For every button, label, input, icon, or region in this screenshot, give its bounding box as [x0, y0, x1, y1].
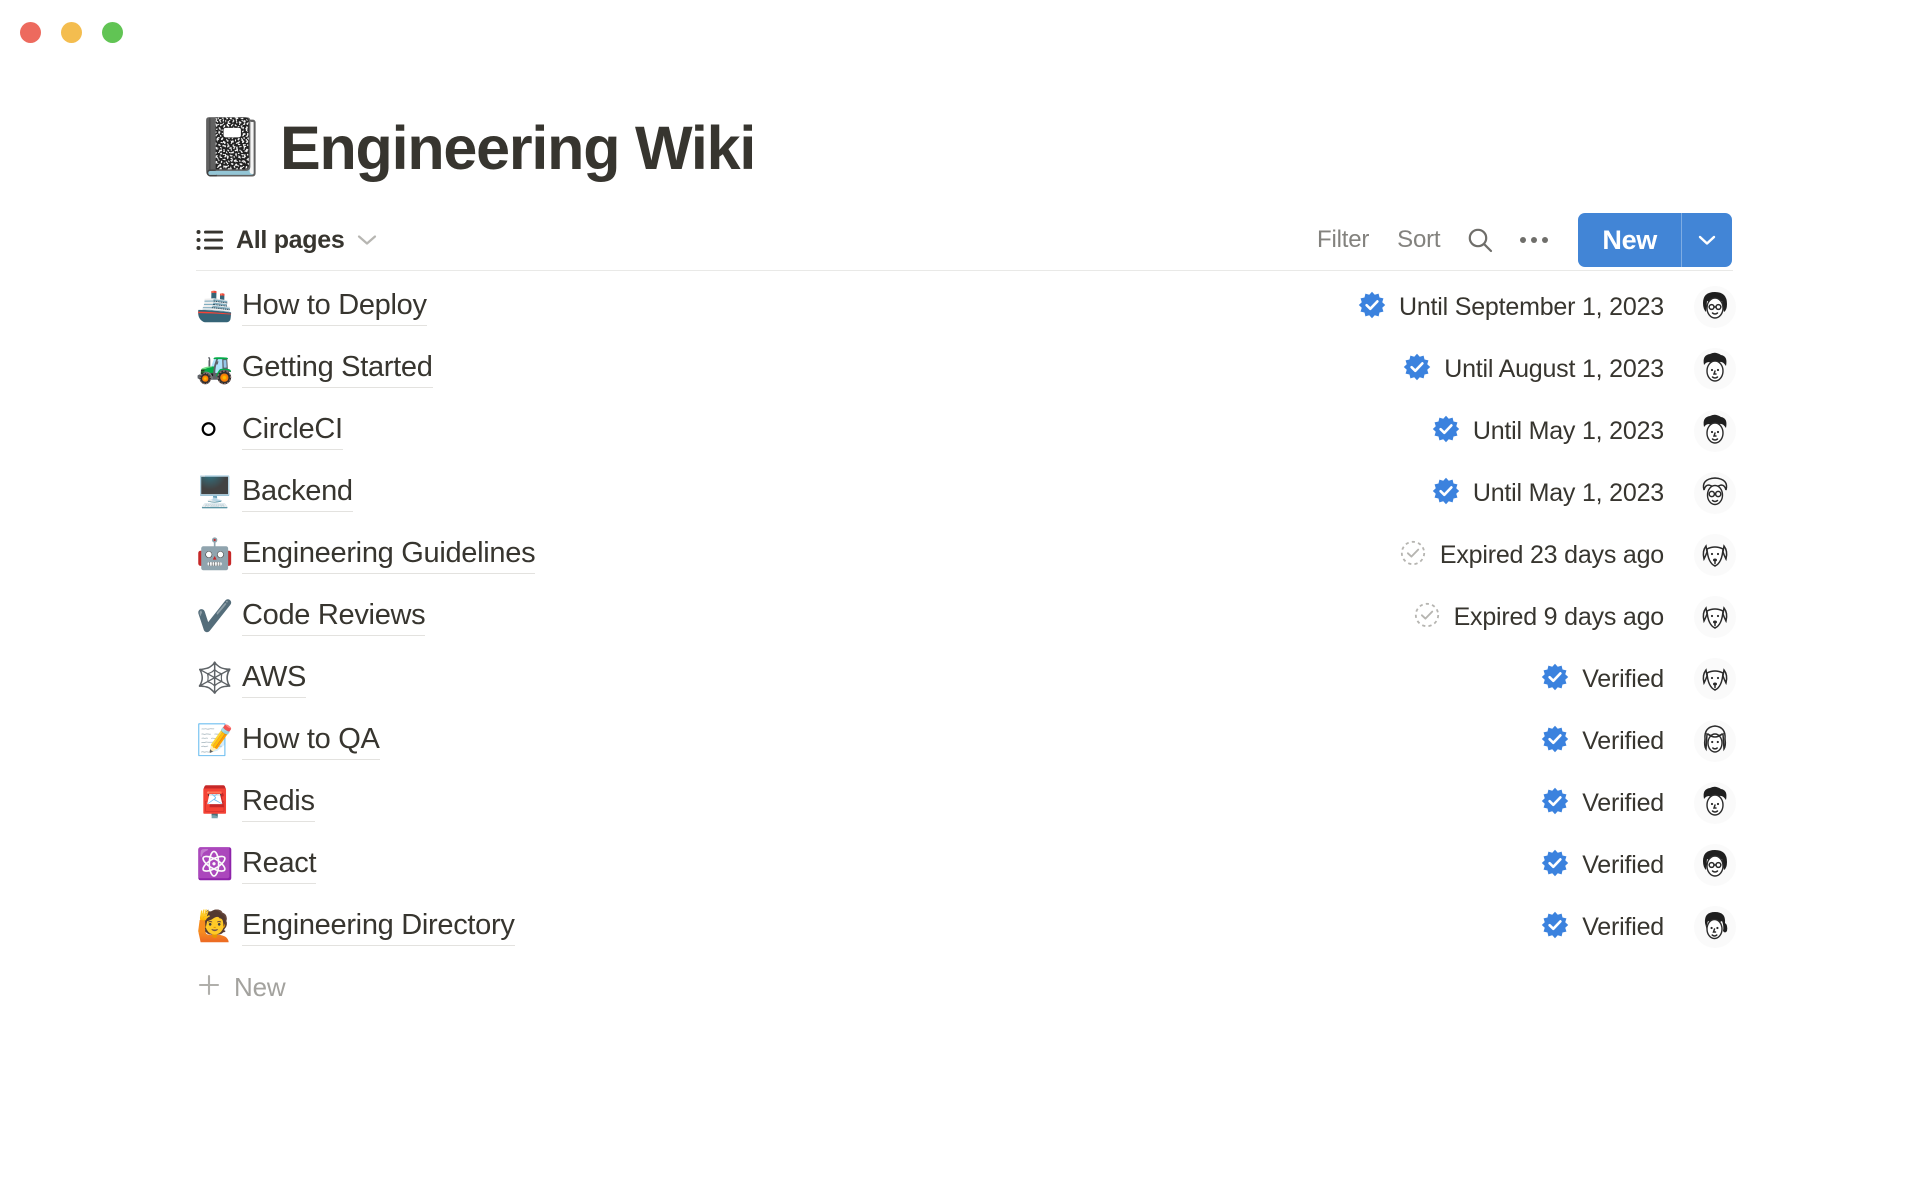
page-link[interactable]: AWS	[242, 661, 306, 698]
page-link[interactable]: Redis	[242, 785, 315, 822]
status-label: Until August 1, 2023	[1444, 355, 1664, 384]
plus-icon	[196, 972, 222, 1003]
verified-badge-icon	[1541, 787, 1569, 820]
maximize-button[interactable]	[102, 22, 123, 43]
avatar-woman-bob-glasses-2[interactable]	[1694, 844, 1736, 886]
status-cell[interactable]: Until August 1, 2023	[1403, 353, 1694, 386]
status-label: Verified	[1582, 913, 1664, 942]
status-cell[interactable]: Expired 23 days ago	[1399, 539, 1694, 572]
view-selector-label: All pages	[236, 226, 344, 255]
verified-badge-icon	[1541, 663, 1569, 696]
verified-badge-icon	[1541, 725, 1569, 758]
status-label: Verified	[1582, 665, 1664, 694]
avatar-woman-ponytail[interactable]	[1694, 906, 1736, 948]
filter-button[interactable]: Filter	[1303, 220, 1383, 260]
table-row[interactable]: 🚜Getting StartedUntil August 1, 2023	[196, 338, 1736, 400]
minimize-button[interactable]	[61, 22, 82, 43]
table-row[interactable]: 🙋Engineering DirectoryVerified	[196, 896, 1736, 958]
window-titlebar	[0, 0, 1920, 62]
status-label: Verified	[1582, 727, 1664, 756]
chevron-down-icon	[356, 233, 378, 247]
page-title[interactable]: Engineering Wiki	[280, 118, 755, 179]
new-button-group: New	[1578, 213, 1732, 267]
page-link[interactable]: Backend	[242, 475, 353, 512]
page-link[interactable]: How to Deploy	[242, 289, 427, 326]
table-row[interactable]: ⚛️ReactVerified	[196, 834, 1736, 896]
status-label: Until September 1, 2023	[1399, 293, 1664, 322]
desktop-computer-emoji: 🖥️	[196, 478, 242, 508]
search-icon[interactable]	[1454, 220, 1506, 260]
avatar-dog-face-2[interactable]	[1694, 596, 1736, 638]
page-list: 🚢How to DeployUntil September 1, 2023🚜Ge…	[196, 271, 1736, 1016]
verified-badge-icon	[1432, 415, 1460, 448]
avatar-person-afro-glasses[interactable]	[1694, 472, 1736, 514]
page-link[interactable]: React	[242, 847, 316, 884]
ship-emoji: 🚢	[196, 292, 242, 322]
postbox-emoji: 📮	[196, 788, 242, 818]
table-row[interactable]: 🚢How to DeployUntil September 1, 2023	[196, 276, 1736, 338]
list-icon	[196, 229, 224, 251]
status-cell[interactable]: Expired 9 days ago	[1413, 601, 1694, 634]
avatar-dog-face-3[interactable]	[1694, 658, 1736, 700]
page-header: 📓 Engineering Wiki	[196, 100, 1736, 196]
expired-badge-icon	[1413, 601, 1441, 634]
verified-badge-icon	[1432, 477, 1460, 510]
check-mark-emoji: ✔️	[196, 602, 242, 632]
white-circle-emoji: ⚪	[196, 416, 242, 446]
page-link[interactable]: Code Reviews	[242, 599, 425, 636]
app-window: 📓 Engineering Wiki All pages	[0, 0, 1920, 1200]
table-row[interactable]: ✔️Code ReviewsExpired 9 days ago	[196, 586, 1736, 648]
status-cell[interactable]: Until September 1, 2023	[1358, 291, 1694, 324]
status-cell[interactable]: Until May 1, 2023	[1432, 477, 1694, 510]
page-link[interactable]: Engineering Directory	[242, 909, 515, 946]
traffic-light-buttons	[20, 22, 123, 43]
notebook-emoji[interactable]: 📓	[196, 120, 258, 176]
atom-symbol-emoji: ⚛️	[196, 850, 242, 880]
status-cell[interactable]: Until May 1, 2023	[1432, 415, 1694, 448]
new-dropdown-button[interactable]	[1682, 213, 1732, 267]
sort-button[interactable]: Sort	[1383, 220, 1454, 260]
database-toolbar: All pages Filter Sort	[196, 210, 1736, 270]
page-link[interactable]: Getting Started	[242, 351, 433, 388]
page-link[interactable]: CircleCI	[242, 413, 343, 450]
table-row[interactable]: 📮RedisVerified	[196, 772, 1736, 834]
status-label: Until May 1, 2023	[1473, 417, 1664, 446]
page-link[interactable]: Engineering Guidelines	[242, 537, 535, 574]
status-label: Expired 23 days ago	[1440, 541, 1664, 570]
tractor-emoji: 🚜	[196, 354, 242, 384]
memo-emoji: 📝	[196, 726, 242, 756]
table-row[interactable]: 🕸️AWSVerified	[196, 648, 1736, 710]
status-cell[interactable]: Verified	[1541, 725, 1694, 758]
person-raising-hand-emoji: 🙋	[196, 912, 242, 942]
table-row[interactable]: ⚪CircleCIUntil May 1, 2023	[196, 400, 1736, 462]
verified-badge-icon	[1541, 911, 1569, 944]
new-page-label: New	[234, 972, 285, 1003]
table-row[interactable]: 📝How to QAVerified	[196, 710, 1736, 772]
page-link[interactable]: How to QA	[242, 723, 380, 760]
avatar-person-dark-curly-hair[interactable]	[1694, 410, 1736, 452]
toolbar-actions: Filter Sort New	[1303, 213, 1732, 267]
spider-web-emoji: 🕸️	[196, 664, 242, 694]
verified-badge-icon	[1541, 849, 1569, 882]
status-cell[interactable]: Verified	[1541, 911, 1694, 944]
robot-emoji: 🤖	[196, 540, 242, 570]
avatar-person-dark-curly-hair-2[interactable]	[1694, 782, 1736, 824]
expired-badge-icon	[1399, 539, 1427, 572]
new-button[interactable]: New	[1578, 213, 1681, 267]
verified-badge-icon	[1403, 353, 1431, 386]
status-label: Verified	[1582, 789, 1664, 818]
verified-badge-icon	[1358, 291, 1386, 324]
status-label: Verified	[1582, 851, 1664, 880]
page-content: 📓 Engineering Wiki All pages	[196, 100, 1736, 1016]
avatar-person-bangs[interactable]	[1694, 720, 1736, 762]
status-label: Expired 9 days ago	[1454, 603, 1664, 632]
avatar-woman-bob-glasses[interactable]	[1694, 286, 1736, 328]
status-cell[interactable]: Verified	[1541, 663, 1694, 696]
table-row[interactable]: 🖥️BackendUntil May 1, 2023	[196, 462, 1736, 524]
new-page-row[interactable]: New	[196, 958, 1736, 1016]
view-selector-all-pages[interactable]: All pages	[196, 226, 378, 255]
status-cell[interactable]: Verified	[1541, 849, 1694, 882]
close-button[interactable]	[20, 22, 41, 43]
status-label: Until May 1, 2023	[1473, 479, 1664, 508]
ellipsis-icon[interactable]	[1506, 231, 1562, 249]
avatar-person-curly-hair[interactable]	[1694, 348, 1736, 390]
avatar-dog-face[interactable]	[1694, 534, 1736, 576]
table-row[interactable]: 🤖Engineering GuidelinesExpired 23 days a…	[196, 524, 1736, 586]
status-cell[interactable]: Verified	[1541, 787, 1694, 820]
